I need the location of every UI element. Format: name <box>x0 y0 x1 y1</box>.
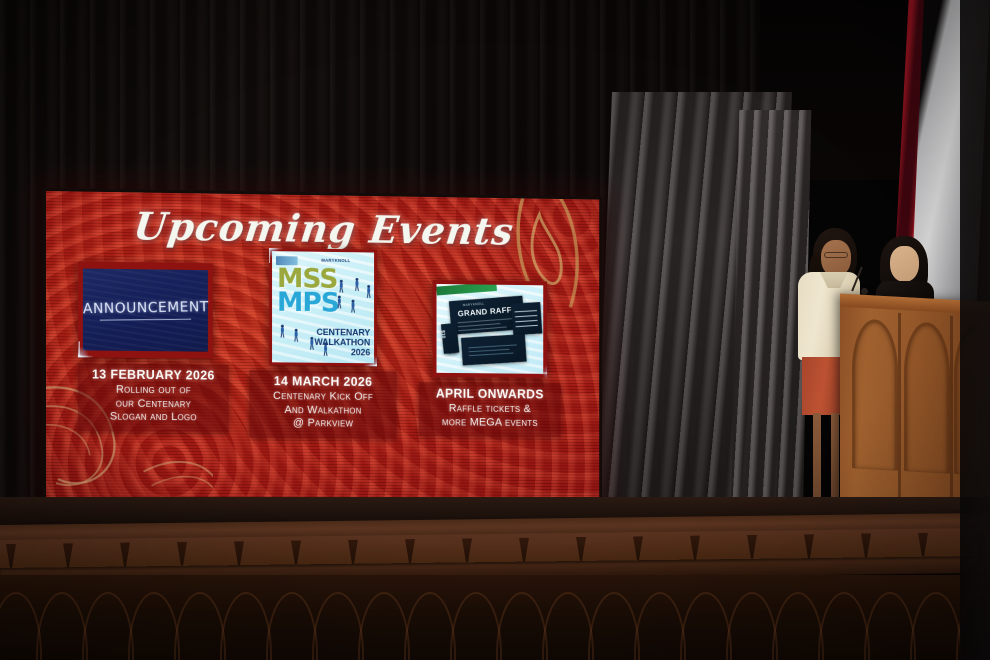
announcement-text-panel: 13 FEBRUARY 2026 Rolling out of our Cent… <box>78 363 229 432</box>
balustrade-dentil <box>120 542 130 566</box>
right-wall-edge <box>960 0 990 660</box>
walking-figure-icon <box>366 285 371 298</box>
announcement-underline <box>100 319 191 321</box>
raffle-ticket-bottom <box>461 334 527 365</box>
balustrade-arch <box>910 592 962 660</box>
balustrade-dentil <box>177 542 187 566</box>
walking-figure-icon <box>339 280 344 293</box>
balustrade-dentil <box>291 540 301 564</box>
balustrade-arch <box>82 592 134 660</box>
balustrade-arch <box>864 592 916 660</box>
event-card-raffle: MARYKNOLL GRAND RAFFLE <box>419 280 561 437</box>
announcement-caption: ANNOUNCEMENT <box>82 299 208 317</box>
event-desc-walkathon-line3: @ Parkview <box>255 417 390 431</box>
raffle-ticket-right <box>511 302 542 335</box>
raffle-small-caption: MARYKNOLL <box>463 302 485 308</box>
raffle-thumbnail: MARYKNOLL GRAND RAFFLE <box>433 280 547 378</box>
balustrade-dentil <box>918 533 928 557</box>
poster-acronym-mps: MPS <box>277 291 339 316</box>
balustrade-dentil <box>462 538 472 562</box>
balustrade-arch <box>220 592 272 660</box>
raffle-tickets-inner: MARYKNOLL GRAND RAFFLE <box>437 284 544 374</box>
balustrade-dentil <box>576 537 586 561</box>
balustrade-dentil <box>633 536 643 560</box>
event-desc-announcement-line2: our Centenary <box>84 397 223 412</box>
balustrade-arch <box>404 592 456 660</box>
balustrade-arch <box>680 592 732 660</box>
poster-subtitle-line1: CENTENARY <box>314 327 370 338</box>
walkathon-thumbnail: MARYKNOLL MSS MPS <box>269 248 377 366</box>
balustrade-arch <box>634 592 686 660</box>
balustrade-lower-panel <box>0 575 990 660</box>
walking-figure-icon <box>351 300 356 313</box>
balustrade-dentil <box>519 538 529 562</box>
walking-figure-icon <box>280 325 285 338</box>
balustrade-arch <box>266 592 318 660</box>
event-desc-announcement-line3: Slogan and Logo <box>84 410 223 425</box>
balustrade-arch <box>174 592 226 660</box>
balustrade-dentil <box>804 534 814 558</box>
podium-arch-center <box>904 321 950 474</box>
balustrade-arch <box>450 592 502 660</box>
auditorium-stage-scene: Upcoming Events ANNOUNCEMENT 13 FEBRUARY… <box>0 0 990 660</box>
event-desc-walkathon-line1: Centenary Kick Off <box>255 390 390 405</box>
presenter-left-leg-left <box>813 413 821 497</box>
announcement-card-inner: ANNOUNCEMENT <box>83 269 208 352</box>
balustrade-dentil <box>861 533 871 557</box>
presenter-left-leg-right <box>831 413 839 497</box>
balustrade-arch <box>542 592 594 660</box>
balustrade-arch <box>726 592 778 660</box>
poster-subtitle-line3: 2026 <box>314 347 370 357</box>
balustrade-dentil <box>6 544 16 568</box>
podium-panel-divider-right <box>950 316 953 506</box>
raffle-price-label: $10 <box>440 330 447 339</box>
balustrade-arch <box>818 592 870 660</box>
presenter-right-face <box>890 246 919 282</box>
announcement-thumbnail: ANNOUNCEMENT <box>78 261 213 358</box>
poster-subtitle: CENTENARY WALKATHON 2026 <box>314 327 370 357</box>
balustrade-dentil <box>747 535 757 559</box>
event-card-walkathon: MARYKNOLL MSS MPS <box>249 248 396 438</box>
walking-figure-icon <box>294 329 299 342</box>
balustrade-arch <box>772 592 824 660</box>
balustrade-dentil <box>234 541 244 565</box>
glasses-icon <box>824 252 848 258</box>
led-presentation-screen: Upcoming Events ANNOUNCEMENT 13 FEBRUARY… <box>43 188 602 505</box>
podium-panel-divider-left <box>898 313 901 503</box>
balustrade-arch <box>358 592 410 660</box>
walking-figure-icon <box>337 296 342 309</box>
walkathon-poster-inner: MARYKNOLL MSS MPS <box>272 251 374 363</box>
slide-title: Upcoming Events <box>43 202 602 254</box>
podium-arch-left <box>852 318 898 471</box>
balustrade-arch <box>588 592 640 660</box>
event-desc-announcement-line1: Rolling out of <box>84 383 223 398</box>
balustrade-dentil <box>63 543 73 567</box>
balustrade-dentil <box>690 535 700 559</box>
walkathon-text-panel: 14 MARCH 2026 Centenary Kick Off And Wal… <box>249 370 396 438</box>
event-cards-row: ANNOUNCEMENT 13 FEBRUARY 2026 Rolling ou… <box>46 253 599 505</box>
balustrade-dentil <box>405 539 415 563</box>
balustrade-arch <box>312 592 364 660</box>
event-date-announcement: 13 FEBRUARY 2026 <box>84 367 223 382</box>
event-date-raffle: APRIL ONWARDS <box>425 387 555 402</box>
event-card-announcement: ANNOUNCEMENT 13 FEBRUARY 2026 Rolling ou… <box>78 261 229 431</box>
raffle-ticket-price-stub: $10 <box>441 323 460 354</box>
balustrade-arch <box>36 592 88 660</box>
balustrade-arch <box>496 592 548 660</box>
event-desc-raffle-line1: Raffle tickets & <box>425 402 555 416</box>
event-desc-raffle-line2: more MEGA events <box>425 416 555 430</box>
event-desc-walkathon-line2: And Walkathon <box>255 403 390 418</box>
balustrade-arch <box>128 592 180 660</box>
balustrade-dentil <box>348 540 358 564</box>
raffle-text-panel: APRIL ONWARDS Raffle tickets & more MEGA… <box>419 383 561 437</box>
raffle-green-band <box>437 284 498 296</box>
poster-subtitle-line2: WALKATHON <box>314 337 370 347</box>
walking-figure-icon <box>354 278 359 291</box>
event-date-walkathon: 14 MARCH 2026 <box>255 374 390 389</box>
